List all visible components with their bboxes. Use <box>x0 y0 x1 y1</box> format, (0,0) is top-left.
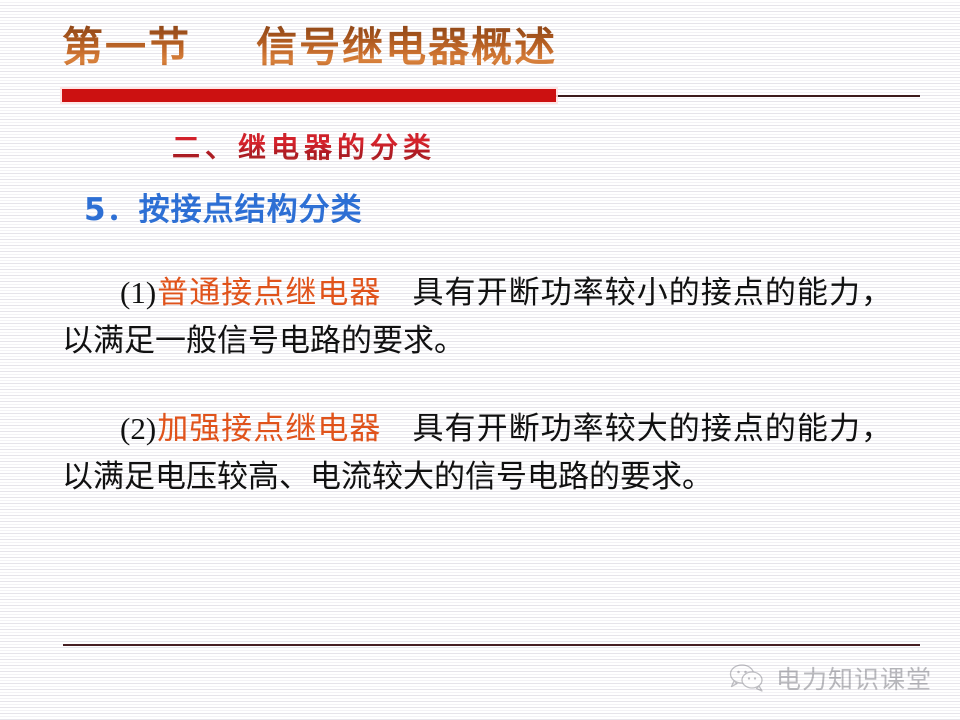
paragraph-1-number: (1) <box>120 275 156 310</box>
slide-canvas: 第一节 信号继电器概述 二、继电器的分类 5．按接点结构分类 (1)普通接点继电… <box>0 0 960 720</box>
header-rule-accent <box>62 89 556 102</box>
paragraph-1: (1)普通接点继电器具有开断功率较小的接点的能力，以满足一般信号电路的要求。 <box>62 269 892 365</box>
brand-name: 电力知识课堂 <box>776 660 932 696</box>
body-content: (1)普通接点继电器具有开断功率较小的接点的能力，以满足一般信号电路的要求。 (… <box>62 238 892 532</box>
topic-heading: 5．按接点结构分类 <box>84 184 363 229</box>
footer-watermark: 电力知识课堂 <box>728 660 932 696</box>
paragraph-2-term: 加强接点继电器 <box>156 411 381 447</box>
paragraph-2: (2)加强接点继电器具有开断功率较大的接点的能力，以满足电压较高、电流较大的信号… <box>62 405 892 501</box>
wechat-icon <box>728 662 768 694</box>
paragraph-2-number: (2) <box>120 411 156 446</box>
page-title: 第一节 信号继电器概述 <box>62 22 557 72</box>
paragraph-1-term: 普通接点继电器 <box>156 275 381 311</box>
section-subtitle: 二、继电器的分类 <box>172 126 436 166</box>
slide-header: 第一节 信号继电器概述 <box>0 0 960 112</box>
footer-rule <box>63 644 920 646</box>
